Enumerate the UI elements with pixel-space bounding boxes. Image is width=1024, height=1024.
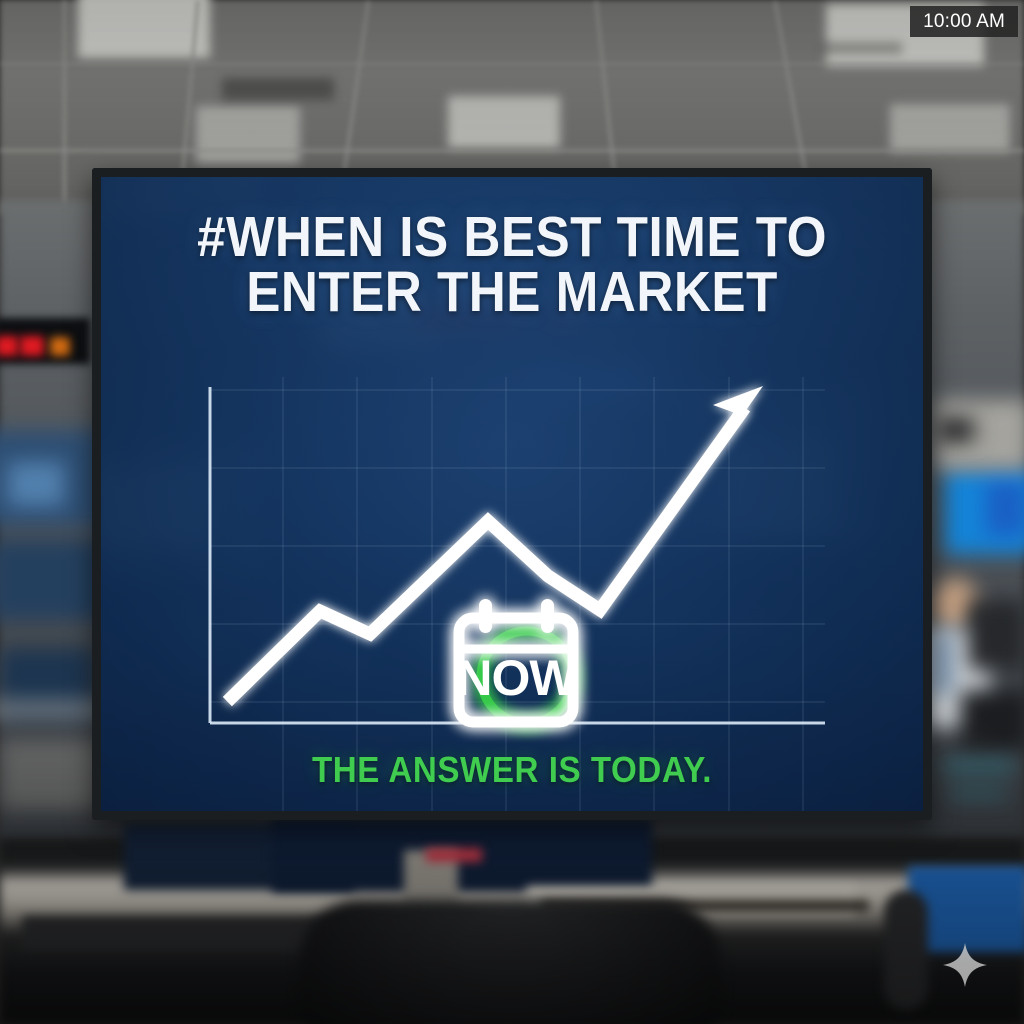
- monitor-screen: NOW #WHEN IS BEST TIME TO ENTER THE MARK…: [101, 177, 923, 811]
- monitor: NOW #WHEN IS BEST TIME TO ENTER THE MARK…: [92, 168, 932, 820]
- background-monitor: [986, 480, 1024, 536]
- screenshot-root: 10:00 AM: [0, 0, 1024, 1024]
- background-monitor: [8, 462, 64, 506]
- background-screen-text: [950, 790, 1006, 797]
- headline-line-2: ENTER THE MARKET: [142, 265, 882, 320]
- calendar-now-label: NOW: [456, 650, 577, 706]
- clock-overlay: 10:00 AM: [910, 6, 1018, 37]
- ceiling-light-panel: [196, 106, 300, 164]
- ticker-digit: [50, 337, 70, 356]
- background-monitor: [960, 690, 1024, 750]
- slide-tagline: THE ANSWER IS TODAY.: [134, 749, 890, 791]
- ceiling-light-panel: [448, 96, 560, 148]
- ceiling-grid-line: [0, 62, 1024, 66]
- slide-headline: #WHEN IS BEST TIME TO ENTER THE MARKET: [142, 210, 882, 321]
- ceiling-grid-line: [62, 0, 67, 215]
- sticky-note: [426, 848, 482, 862]
- background-camera: [938, 418, 974, 442]
- background-screen-text: [944, 762, 1014, 770]
- ceiling-light-panel: [890, 104, 1010, 152]
- ceiling-grid-line: [0, 148, 1024, 153]
- sparkle-icon: [941, 941, 989, 989]
- ceiling-vent: [222, 78, 334, 100]
- office-chair: [300, 900, 720, 1024]
- ticker-digit: [20, 336, 44, 356]
- background-person-shirt: [930, 634, 954, 694]
- background-monitor: [968, 600, 1024, 670]
- monitor-arm: [884, 890, 928, 1010]
- ticker-digit: [0, 336, 18, 356]
- ceiling-vent: [820, 42, 902, 54]
